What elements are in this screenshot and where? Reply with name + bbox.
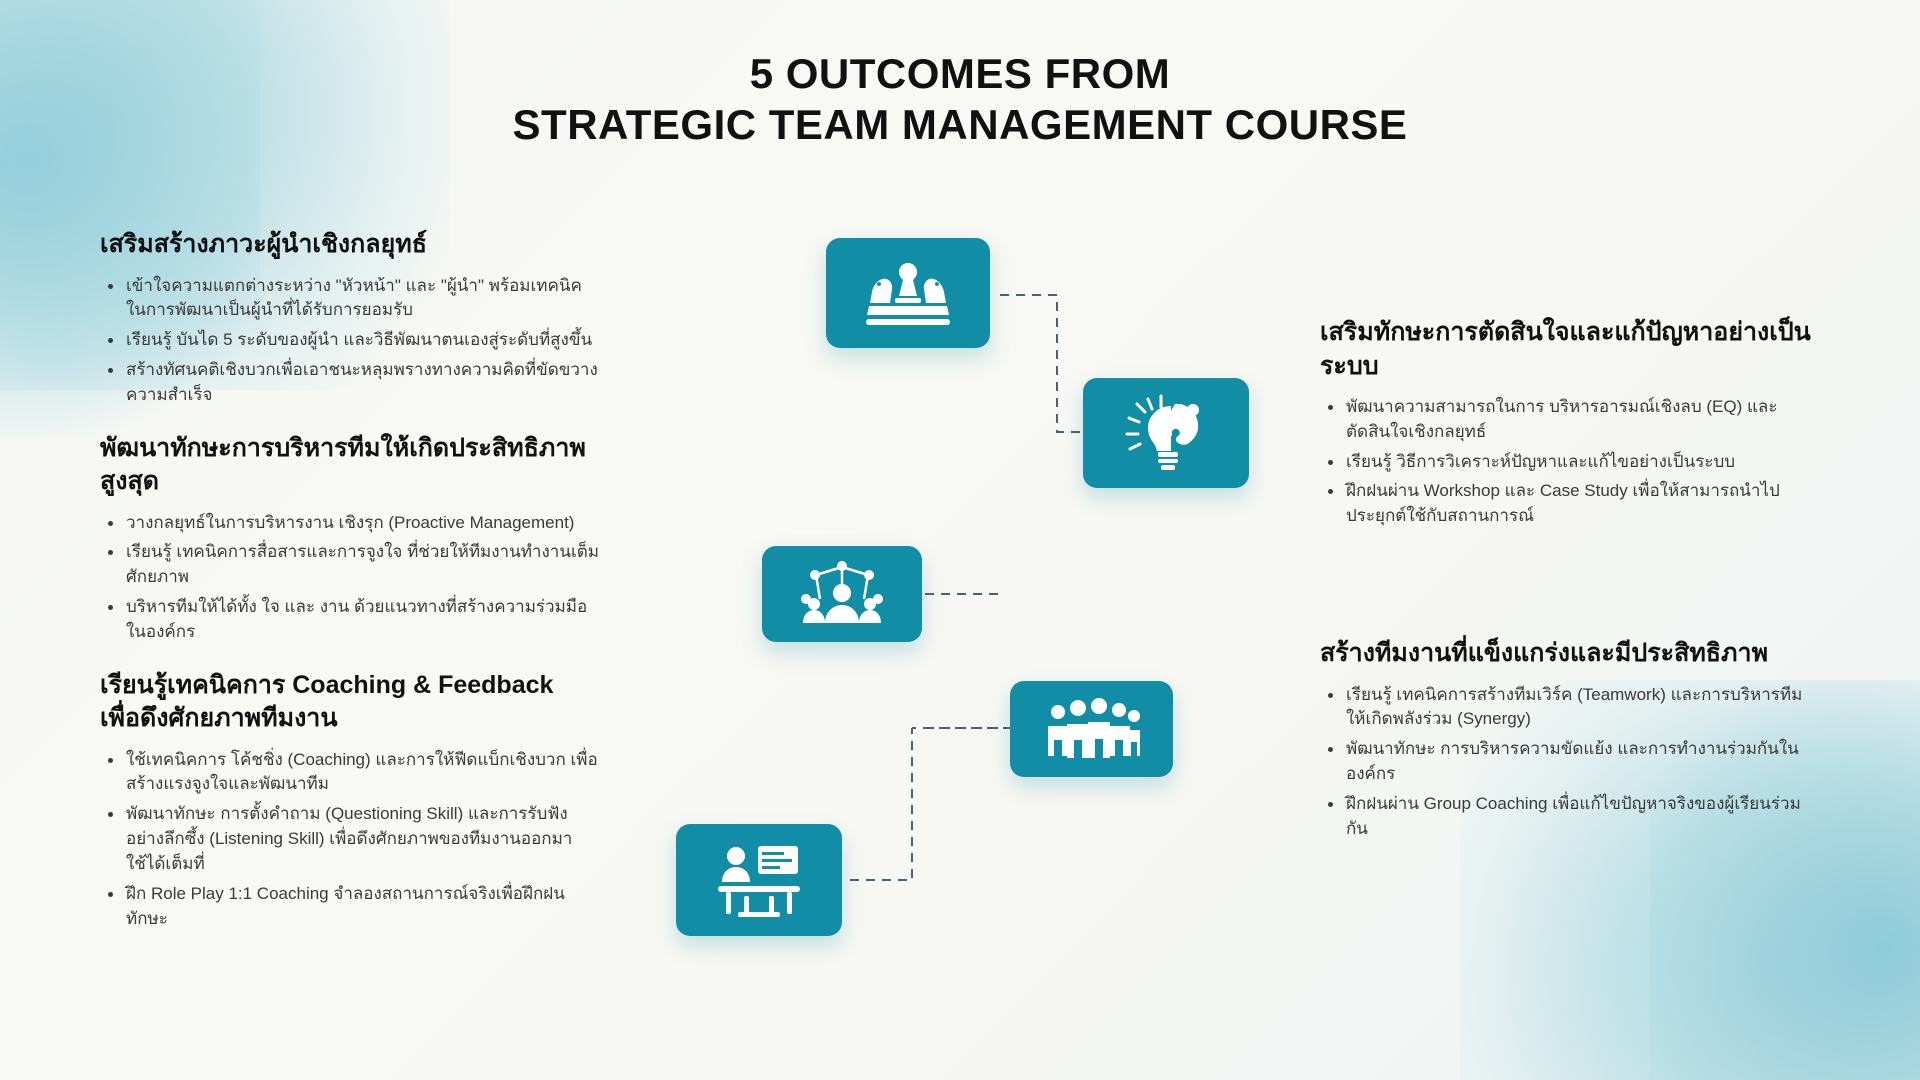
list-item: เรียนรู้ เทคนิคการสร้างทีมเวิร์ค (Teamwo… [1320, 683, 1820, 733]
list-item: สร้างทัศนคติเชิงบวกเพื่อเอาชนะหลุมพรางทา… [100, 358, 600, 408]
right-column: เสริมทักษะการตัดสินใจและแก้ปัญหาอย่างเป็… [1320, 316, 1820, 865]
title-line-1: 5 OUTCOMES FROM [0, 48, 1920, 99]
list-item: พัฒนาทักษะ การบริหารความขัดแย้ง และการทำ… [1320, 737, 1820, 787]
outcome-section-5: สร้างทีมงานที่แข็งแกร่งและมีประสิทธิภาพ … [1320, 637, 1820, 841]
list-item: ฝึกฝนผ่าน Workshop และ Case Study เพื่อใ… [1320, 479, 1820, 529]
list-item: ฝึกฝนผ่าน Group Coaching เพื่อแก้ไขปัญหา… [1320, 792, 1820, 842]
title-line-2: STRATEGIC TEAM MANAGEMENT COURSE [0, 99, 1920, 150]
list-item: วางกลยุทธ์ในการบริหารงาน เชิงรุก (Proact… [100, 511, 600, 536]
section-bullet-list: พัฒนาความสามารถในการ บริหารอารมณ์เชิงลบ … [1320, 395, 1820, 529]
infographic-canvas: 5 OUTCOMES FROM STRATEGIC TEAM MANAGEMEN… [0, 0, 1920, 1080]
section-heading: เสริมสร้างภาวะผู้นำเชิงกลยุทธ์ [100, 228, 600, 262]
node-group-people[interactable] [1010, 681, 1173, 777]
page-title: 5 OUTCOMES FROM STRATEGIC TEAM MANAGEMEN… [0, 48, 1920, 150]
node-coaching-feedback[interactable] [676, 824, 842, 936]
section-bullet-list: เข้าใจความแตกต่างระหว่าง "หัวหน้า" และ "… [100, 274, 600, 408]
node-chess-leadership[interactable] [826, 238, 990, 348]
list-item: เข้าใจความแตกต่างระหว่าง "หัวหน้า" และ "… [100, 274, 600, 324]
node-team-network[interactable] [762, 546, 922, 642]
section-heading: เสริมทักษะการตัดสินใจและแก้ปัญหาอย่างเป็… [1320, 316, 1820, 383]
section-bullet-list: วางกลยุทธ์ในการบริหารงาน เชิงรุก (Proact… [100, 511, 600, 645]
list-item: เรียนรู้ เทคนิคการสื่อสารและการจูงใจ ที่… [100, 540, 600, 590]
list-item: บริหารทีมให้ได้ทั้ง ใจ และ งาน ด้วยแนวทา… [100, 595, 600, 645]
list-item: เรียนรู้ วิธีการวิเคราะห์ปัญหาและแก้ไขอย… [1320, 450, 1820, 475]
list-item: พัฒนาความสามารถในการ บริหารอารมณ์เชิงลบ … [1320, 395, 1820, 445]
lightbulb-puzzle-icon [1123, 394, 1209, 472]
list-item: เรียนรู้ บันได 5 ระดับของผู้นำ และวิธีพั… [100, 328, 600, 353]
section-heading: เรียนรู้เทคนิคการ Coaching & Feedback เพ… [100, 669, 600, 736]
chess-leadership-icon [862, 257, 954, 329]
section-bullet-list: ใช้เทคนิคการ โค้ชชิ่ง (Coaching) และการใ… [100, 748, 600, 932]
section-heading: พัฒนาทักษะการบริหารทีมให้เกิดประสิทธิภาพ… [100, 432, 600, 499]
coaching-feedback-icon [714, 840, 804, 920]
list-item: พัฒนาทักษะ การตั้งคำถาม (Questioning Ski… [100, 802, 600, 876]
section-bullet-list: เรียนรู้ เทคนิคการสร้างทีมเวิร์ค (Teamwo… [1320, 683, 1820, 842]
list-item: ฝึก Role Play 1:1 Coaching จำลองสถานการณ… [100, 882, 600, 932]
outcome-section-1: เสริมสร้างภาวะผู้นำเชิงกลยุทธ์ เข้าใจควา… [100, 228, 600, 408]
section-heading: สร้างทีมงานที่แข็งแกร่งและมีประสิทธิภาพ [1320, 637, 1820, 671]
left-column: เสริมสร้างภาวะผู้นำเชิงกลยุทธ์ เข้าใจควา… [100, 228, 600, 955]
list-item: ใช้เทคนิคการ โค้ชชิ่ง (Coaching) และการใ… [100, 748, 600, 798]
outcome-section-2: พัฒนาทักษะการบริหารทีมให้เกิดประสิทธิภาพ… [100, 432, 600, 645]
outcome-section-4: เสริมทักษะการตัดสินใจและแก้ปัญหาอย่างเป็… [1320, 316, 1820, 529]
outcome-section-3: เรียนรู้เทคนิคการ Coaching & Feedback เพ… [100, 669, 600, 932]
node-lightbulb-puzzle[interactable] [1083, 378, 1249, 488]
group-people-icon [1044, 696, 1140, 762]
team-network-icon [798, 559, 886, 629]
